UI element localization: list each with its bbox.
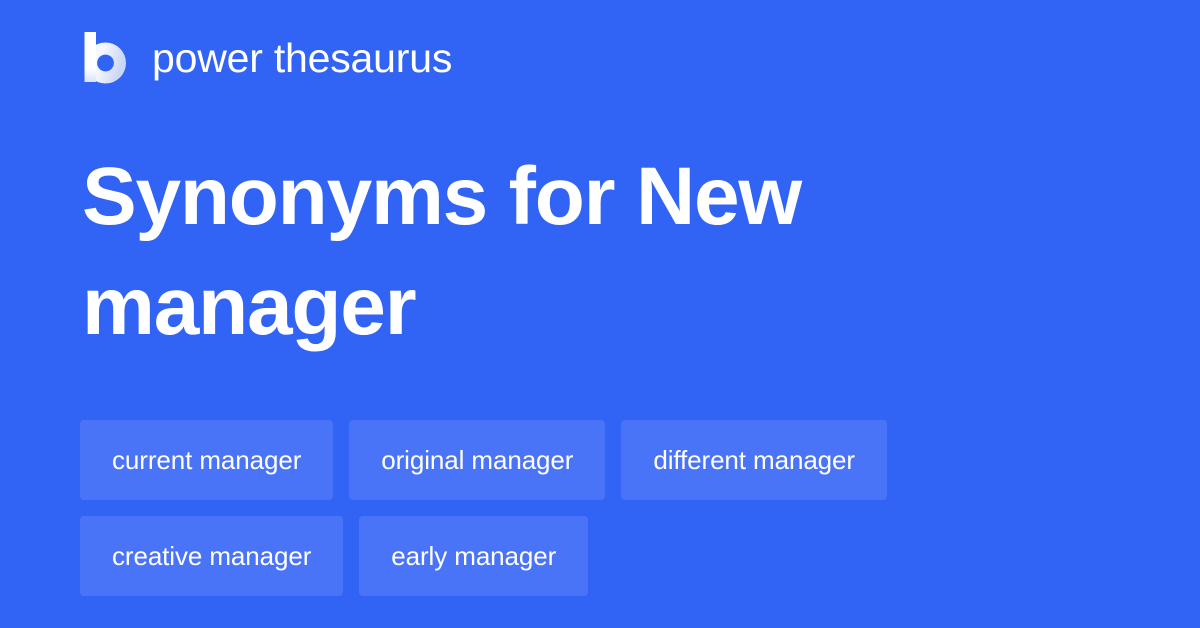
synonym-chip-label: original manager [381, 447, 573, 473]
synonym-chip[interactable]: creative manager [80, 516, 343, 596]
brand-name: power thesaurus [152, 38, 452, 79]
synonym-chip-list: current manager original manager differe… [80, 420, 1120, 596]
synonym-chip-label: early manager [391, 543, 556, 569]
synonym-chip-label: different manager [653, 447, 855, 473]
brand-header[interactable]: power thesaurus [84, 30, 452, 86]
synonym-chip[interactable]: early manager [359, 516, 588, 596]
synonym-chip-label: current manager [112, 447, 301, 473]
synonym-chip[interactable]: different manager [621, 420, 887, 500]
power-thesaurus-b-logo-icon [84, 32, 126, 84]
synonym-chip-label: creative manager [112, 543, 311, 569]
synonym-chip[interactable]: original manager [349, 420, 605, 500]
synonyms-share-card: power thesaurus Synonyms for New manager… [0, 0, 1200, 628]
page-title: Synonyms for New manager [82, 142, 1082, 362]
synonym-chip[interactable]: current manager [80, 420, 333, 500]
